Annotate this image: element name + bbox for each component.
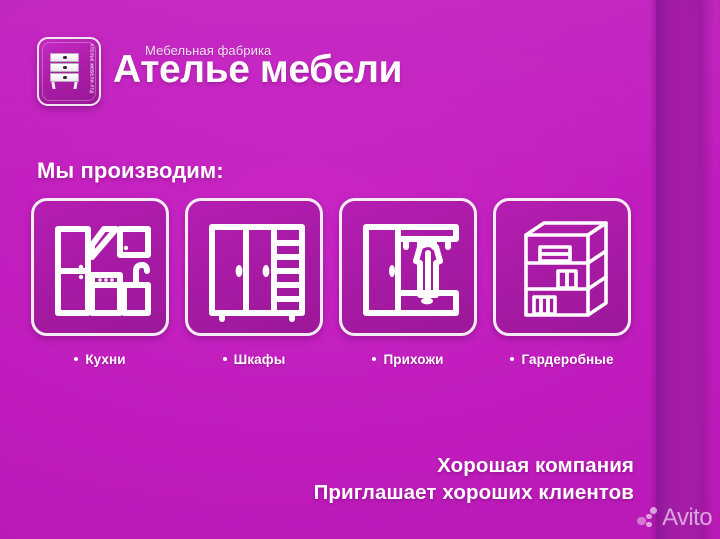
product-label-hallways: Прихожи: [339, 346, 477, 372]
product-label-text: Шкафы: [234, 352, 286, 367]
logo-vertical-text-wrap: АТЕЛЬЕ МЕБЕЛИ ЛТД: [87, 44, 97, 98]
product-card-closets[interactable]: [493, 198, 631, 336]
company-logo-badge: АТЕЛЬЕ МЕБЕЛИ ЛТД: [37, 37, 101, 106]
section-heading: Мы производим:: [37, 158, 224, 184]
kitchen-icon: [34, 201, 166, 333]
sidebar-edge-right: [702, 0, 714, 539]
tagline: Хорошая компания Приглашает хороших клие…: [314, 452, 634, 506]
product-card-kitchens[interactable]: [31, 198, 169, 336]
product-card-wardrobes[interactable]: [185, 198, 323, 336]
dresser-leg: [51, 82, 55, 89]
brand-title: Ателье мебели: [113, 50, 402, 89]
avito-dot: [646, 514, 652, 520]
sidebar-band: [656, 0, 702, 539]
advertisement-banner: АТЕЛЬЕ МЕБЕЛИ ЛТД Мебельная фабрика Ател…: [0, 0, 720, 539]
wardrobe-icon: [188, 201, 320, 333]
product-labels-row: Кухни Шкафы Прихожи Гардеробные: [31, 346, 636, 372]
dresser-leg: [73, 82, 77, 89]
tagline-line-1: Хорошая компания: [314, 452, 634, 479]
avito-dot: [650, 507, 657, 514]
product-label-text: Гардеробные: [521, 352, 613, 367]
sidebar-strip: ОНЛАЙН МРКЕТ МЕБЕЛИ И ТОВАРОВ ДЛЯ ДОМА: [642, 0, 720, 539]
product-label-text: Прихожи: [383, 352, 443, 367]
logo-vertical-text: АТЕЛЬЕ МЕБЕЛИ ЛТД: [90, 42, 95, 96]
avito-watermark: Avito: [637, 503, 712, 533]
product-label-kitchens: Кухни: [31, 346, 169, 372]
bullet-icon: [223, 357, 227, 361]
product-label-text: Кухни: [85, 352, 125, 367]
bullet-icon: [510, 357, 514, 361]
tagline-line-2: Приглашает хороших клиентов: [314, 479, 634, 506]
avito-dot: [646, 522, 652, 528]
bullet-icon: [372, 357, 376, 361]
avito-wordmark: Avito: [662, 506, 712, 530]
hallway-icon: [342, 201, 474, 333]
avito-dot: [637, 517, 646, 526]
product-card-hallways[interactable]: [339, 198, 477, 336]
dresser-icon: [50, 53, 79, 89]
product-cards-row: [31, 198, 636, 336]
avito-dots-logo: [637, 507, 660, 530]
drawer-knob: [63, 56, 67, 59]
shelving-icon: [496, 201, 628, 333]
bullet-icon: [74, 357, 78, 361]
drawer-knob: [63, 76, 67, 79]
drawer-knob: [63, 66, 67, 69]
product-label-closets: Гардеробные: [493, 346, 631, 372]
product-label-wardrobes: Шкафы: [185, 346, 323, 372]
